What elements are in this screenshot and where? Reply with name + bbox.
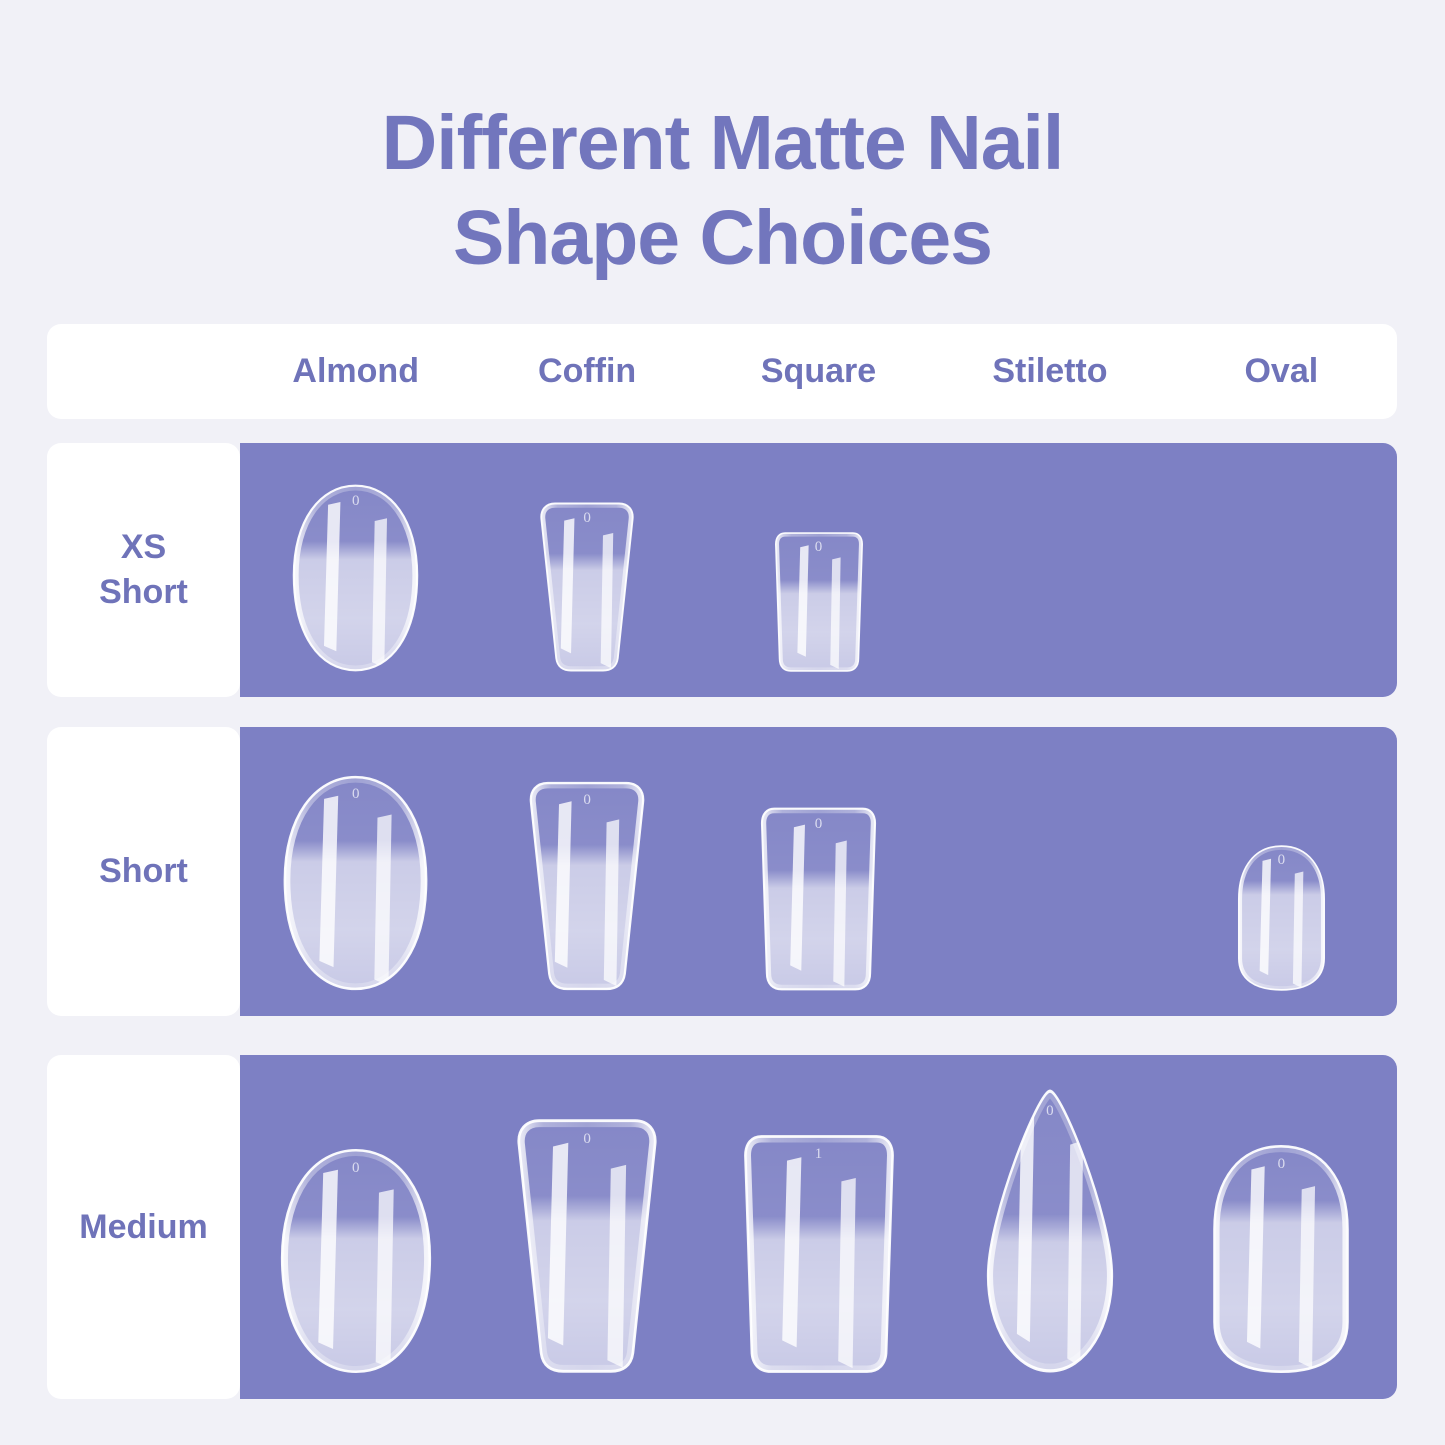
nail-shape-chart-page: Different Matte Nail Shape Choices Almon… [0, 0, 1445, 1445]
cell-short-oval[interactable]: 0 [1166, 727, 1397, 1016]
cell-xs-short-stiletto [934, 443, 1165, 697]
cell-medium-stiletto[interactable]: 0 [934, 1055, 1165, 1399]
coffin-nail-tip-icon: 0 [530, 501, 644, 673]
row-label-line-1: Medium [79, 1205, 207, 1250]
cell-medium-almond[interactable]: 0 [240, 1055, 471, 1399]
coffin-nail-tip-icon: 0 [502, 1117, 672, 1375]
row-label-line-1: XS [121, 528, 166, 566]
almond-nail-tip-icon: 0 [277, 774, 434, 992]
row-label-line-2: Short [99, 573, 188, 611]
row-label-short: Short [47, 727, 240, 1016]
almond-nail-tip-icon: 0 [274, 1147, 438, 1375]
size-row-xs-short: XS Short 0 0 0 [47, 443, 1397, 697]
column-header-coffin: Coffin [471, 324, 702, 419]
cell-medium-oval[interactable]: 0 [1166, 1055, 1397, 1399]
coffin-nail-tip-icon: 0 [517, 780, 657, 992]
stiletto-nail-tip-icon: 0 [978, 1087, 1122, 1375]
column-header-almond: Almond [240, 324, 471, 419]
row-label-xs-short: XS Short [47, 443, 240, 697]
size-row-short: Short 0 0 0 0 [47, 727, 1397, 1016]
shape-header-card: Almond Coffin Square Stiletto Oval [47, 324, 1397, 419]
header-columns: Almond Coffin Square Stiletto Oval [240, 324, 1397, 419]
cell-xs-short-square[interactable]: 0 [703, 443, 934, 697]
row-band-xs-short: 0 0 0 [240, 443, 1397, 697]
row-band-short: 0 0 0 0 [240, 727, 1397, 1016]
page-title: Different Matte Nail Shape Choices [0, 96, 1445, 286]
oval-nail-tip-icon: 0 [1207, 1143, 1355, 1375]
row-band-medium: 0 0 1 0 0 [240, 1055, 1397, 1399]
page-title-line-2: Shape Choices [0, 191, 1445, 286]
oval-nail-tip-icon: 0 [1234, 844, 1329, 992]
cell-short-square[interactable]: 0 [703, 727, 934, 1016]
size-row-medium: Medium 0 0 1 0 0 [47, 1055, 1397, 1399]
cell-short-stiletto [934, 727, 1165, 1016]
row-label-medium: Medium [47, 1055, 240, 1399]
cell-medium-coffin[interactable]: 0 [471, 1055, 702, 1399]
square-nail-tip-icon: 0 [772, 531, 866, 673]
almond-nail-tip-icon: 0 [287, 483, 424, 673]
page-title-line-1: Different Matte Nail [0, 96, 1445, 191]
column-header-square: Square [703, 324, 934, 419]
column-header-stiletto: Stiletto [934, 324, 1165, 419]
cell-xs-short-almond[interactable]: 0 [240, 443, 471, 697]
cell-short-almond[interactable]: 0 [240, 727, 471, 1016]
column-header-oval: Oval [1166, 324, 1397, 419]
row-label-line-1: Short [99, 849, 188, 894]
cell-xs-short-coffin[interactable]: 0 [471, 443, 702, 697]
cell-medium-square[interactable]: 1 [703, 1055, 934, 1399]
square-nail-tip-icon: 1 [739, 1133, 899, 1375]
header-corner-spacer [47, 324, 240, 419]
cell-short-coffin[interactable]: 0 [471, 727, 702, 1016]
cell-xs-short-oval [1166, 443, 1397, 697]
square-nail-tip-icon: 0 [757, 806, 880, 992]
